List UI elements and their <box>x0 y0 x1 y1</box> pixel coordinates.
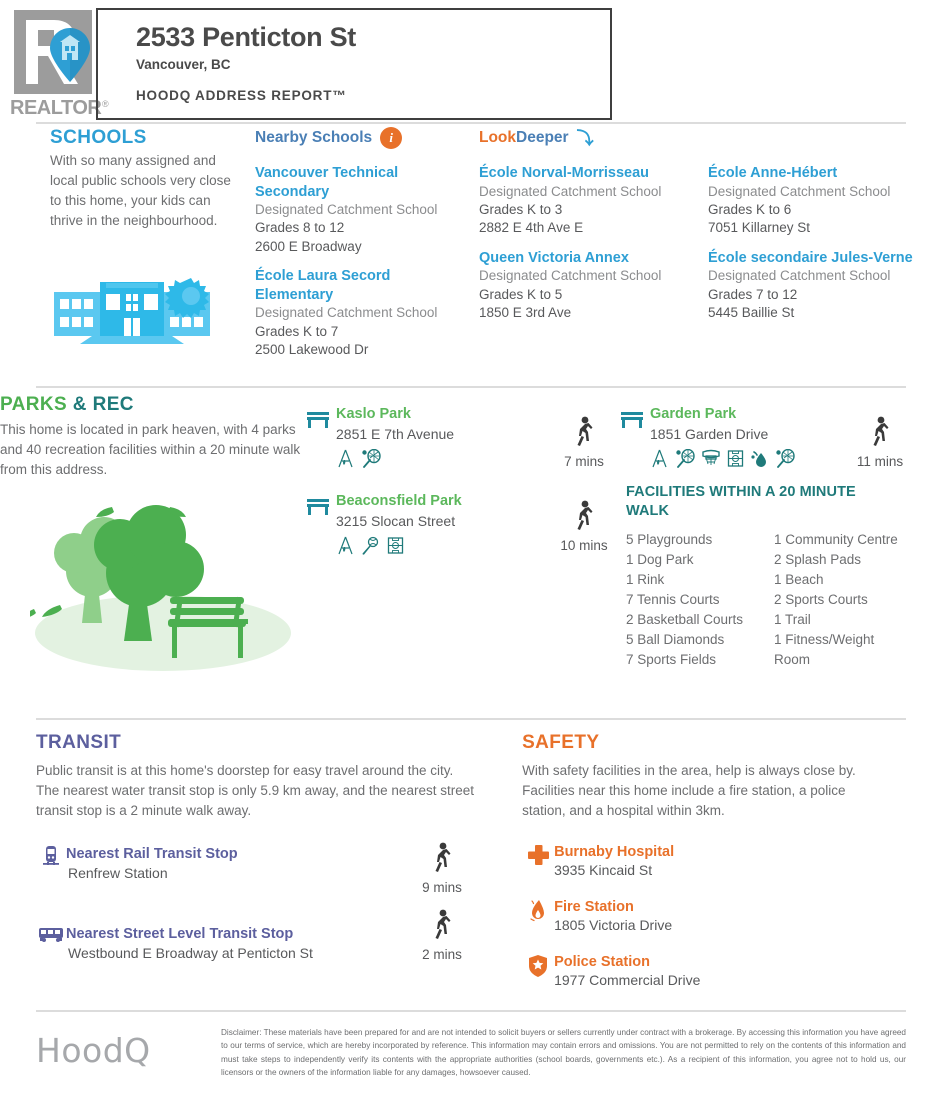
hospital-cross-icon <box>522 843 554 866</box>
bench-icon <box>306 409 330 429</box>
bench-icon <box>620 409 644 429</box>
facility-item: 2 Basketball Courts <box>626 610 752 630</box>
report-header: REALTOR ® 2533 Penticton St Vancouver, B… <box>0 0 942 122</box>
park-address: 2851 E 7th Avenue <box>336 425 454 444</box>
parks-title: PARKS & REC <box>0 394 134 416</box>
school-item: École Laura Secord Elementary Designated… <box>255 267 460 359</box>
park-name[interactable]: Kaslo Park <box>336 406 454 423</box>
page-title: 2533 Penticton St <box>136 22 610 52</box>
schools-title: SCHOOLS <box>50 127 147 149</box>
park-item: Garden Park 1851 Garden Drive <box>620 406 850 468</box>
park-item: Kaslo Park 2851 E 7th Avenue <box>306 406 566 468</box>
park-walk-time: 7 mins <box>552 416 616 469</box>
facility-item: 1 Fitness/Weight Room <box>774 630 902 670</box>
transit-section: TRANSIT Public transit is at this home's… <box>36 732 487 1010</box>
hoodq-address-report: REALTOR ® 2533 Penticton St Vancouver, B… <box>0 0 942 1116</box>
facility-item: 7 Sports Fields <box>626 650 752 670</box>
park-walk-time: 11 mins <box>848 416 912 469</box>
school-item: École Anne-Hébert Designated Catchment S… <box>708 164 919 238</box>
school-designation: Designated Catchment School <box>255 201 460 219</box>
walk-minutes: 2 mins <box>410 947 474 962</box>
arrow-down-icon[interactable]: ⤵ <box>577 130 594 147</box>
school-grades: Grades K to 3 <box>479 201 690 219</box>
school-address: 7051 Killarney St <box>708 219 919 237</box>
lookdeeper-column: LookDeeper ⤵ École Norval-Morrisseau Des… <box>479 126 919 333</box>
transit-stop-name: Renfrew Station <box>68 864 238 883</box>
nearby-schools-label: Nearby Schools <box>255 129 372 147</box>
school-name[interactable]: Queen Victoria Annex <box>479 249 690 268</box>
school-grades: Grades 8 to 12 <box>255 219 460 237</box>
walking-person-icon <box>868 416 892 448</box>
safety-address: 3935 Kincaid St <box>554 861 674 880</box>
flame-icon <box>522 898 554 923</box>
school-designation: Designated Catchment School <box>479 183 690 201</box>
park-amenity-icons <box>336 536 462 555</box>
facility-item: 5 Playgrounds <box>626 530 752 550</box>
school-item: École Norval-Morrisseau Designated Catch… <box>479 164 690 238</box>
park-walk-time: 10 mins <box>552 500 616 553</box>
park-address: 3215 Slocan Street <box>336 512 462 531</box>
school-grades: Grades K to 6 <box>708 201 919 219</box>
school-grades: Grades 7 to 12 <box>708 286 919 304</box>
tennis-racquet-icon <box>361 449 381 468</box>
bench-icon <box>306 496 330 516</box>
school-item: Queen Victoria Annex Designated Catchmen… <box>479 249 690 323</box>
train-icon <box>36 845 66 869</box>
parks-blurb: This home is located in park heaven, wit… <box>0 420 310 480</box>
schools-section: SCHOOLS With so many assigned and local … <box>0 124 942 386</box>
park-amenity-icons <box>336 449 454 468</box>
safety-section: SAFETY With safety facilities in the are… <box>522 732 906 1010</box>
police-shield-icon <box>522 953 554 978</box>
park-illustration <box>30 493 296 673</box>
transit-walk-time: 9 mins <box>410 842 474 895</box>
lookdeeper-heading: LookDeeper ⤵ <box>479 126 919 150</box>
facility-item: 1 Trail <box>774 610 902 630</box>
walking-person-icon <box>430 909 454 941</box>
lookdeeper-right-list: École Anne-Hébert Designated Catchment S… <box>708 164 919 333</box>
park-address: 1851 Garden Drive <box>650 425 795 444</box>
school-item: École secondaire Jules-Verne Designated … <box>708 249 919 323</box>
transit-blurb: Public transit is at this home's doorste… <box>36 761 476 821</box>
safety-name[interactable]: Fire Station <box>554 898 672 916</box>
school-address: 2600 E Broadway <box>255 238 460 256</box>
school-name[interactable]: École secondaire Jules-Verne <box>708 249 919 268</box>
facilities-heading: FACILITIES WITHIN A 20 MINUTE WALK <box>626 483 896 521</box>
school-designation: Designated Catchment School <box>479 267 690 285</box>
transit-walk-time: 2 mins <box>410 909 474 962</box>
lookdeeper-left-list: École Norval-Morrisseau Designated Catch… <box>479 164 690 333</box>
address-box: 2533 Penticton St Vancouver, BC HOODQ AD… <box>96 8 612 120</box>
school-name[interactable]: École Laura Secord Elementary <box>255 267 460 304</box>
safety-address: 1805 Victoria Drive <box>554 916 672 935</box>
park-amenity-icons <box>650 449 795 468</box>
school-address: 2500 Lakewood Dr <box>255 341 460 359</box>
playground-icon <box>336 449 355 468</box>
facilities-lists: 5 Playgrounds 1 Dog Park 1 Rink 7 Tennis… <box>626 530 902 670</box>
school-grades: Grades K to 7 <box>255 323 460 341</box>
facilities-column-b: 1 Community Centre 2 Splash Pads 1 Beach… <box>774 530 902 670</box>
safety-title: SAFETY <box>522 732 906 754</box>
facilities-column-a: 5 Playgrounds 1 Dog Park 1 Rink 7 Tennis… <box>626 530 752 670</box>
transit-stop-label[interactable]: Nearest Rail Transit Stop <box>66 845 238 863</box>
playground-icon <box>650 449 669 468</box>
transit-title: TRANSIT <box>36 732 487 754</box>
safety-blurb: With safety facilities in the area, help… <box>522 761 887 821</box>
svg-text:REALTOR: REALTOR <box>10 97 102 118</box>
park-name[interactable]: Garden Park <box>650 406 795 423</box>
info-icon[interactable]: i <box>380 127 402 149</box>
park-item: Beaconsfield Park 3215 Slocan Street <box>306 493 566 555</box>
safety-name[interactable]: Burnaby Hospital <box>554 843 674 861</box>
school-item: Vancouver Technical Secondary Designated… <box>255 164 460 256</box>
school-designation: Designated Catchment School <box>255 304 460 322</box>
facility-item: 7 Tennis Courts <box>626 590 752 610</box>
facility-item: 5 Ball Diamonds <box>626 630 752 650</box>
walking-person-icon <box>572 500 596 532</box>
school-address: 5445 Baillie St <box>708 304 919 322</box>
school-address: 1850 E 3rd Ave <box>479 304 690 322</box>
school-designation: Designated Catchment School <box>708 183 919 201</box>
sports-field-icon <box>387 536 404 555</box>
school-name[interactable]: École Norval-Morrisseau <box>479 164 690 183</box>
hoodq-logo: HoodQ <box>36 1026 221 1067</box>
walk-minutes: 9 mins <box>410 880 474 895</box>
tennis-racquet-icon <box>775 449 795 468</box>
transit-safety-row: TRANSIT Public transit is at this home's… <box>0 720 942 1010</box>
facility-item: 1 Rink <box>626 570 752 590</box>
walk-minutes: 11 mins <box>848 454 912 469</box>
walk-minutes: 7 mins <box>552 454 616 469</box>
address-city: Vancouver, BC <box>136 57 610 72</box>
ball-diamond-icon <box>361 536 381 555</box>
transit-stop-label[interactable]: Nearest Street Level Transit Stop <box>66 925 313 943</box>
tennis-racquet-icon <box>675 449 695 468</box>
lookdeeper-label-first: Look <box>479 129 516 146</box>
park-name[interactable]: Beaconsfield Park <box>336 493 462 510</box>
school-name[interactable]: Vancouver Technical Secondary <box>255 164 460 201</box>
school-grades: Grades K to 5 <box>479 286 690 304</box>
walking-person-icon <box>430 842 454 874</box>
walking-person-icon <box>572 416 596 448</box>
safety-name[interactable]: Police Station <box>554 953 700 971</box>
safety-item: Fire Station 1805 Victoria Drive <box>522 898 906 935</box>
facility-item: 2 Splash Pads <box>774 550 902 570</box>
facility-item: 2 Sports Courts <box>774 590 902 610</box>
schools-blurb: With so many assigned and local public s… <box>50 151 242 231</box>
facility-item: 1 Beach <box>774 570 902 590</box>
nearby-schools-heading: Nearby Schools i <box>255 126 460 150</box>
facility-item: 1 Dog Park <box>626 550 752 570</box>
splash-pad-icon <box>750 449 769 468</box>
school-building-illustration <box>48 272 216 350</box>
lookdeeper-label-second: Deeper <box>516 129 569 146</box>
parks-title-first: PARKS <box>0 394 67 415</box>
bus-icon <box>36 925 66 945</box>
school-name[interactable]: École Anne-Hébert <box>708 164 919 183</box>
nearby-schools-column: Nearby Schools i Vancouver Technical Sec… <box>255 126 460 370</box>
report-footer: HoodQ Disclaimer: These materials have b… <box>0 1012 942 1079</box>
parks-rec-section: PARKS & REC This home is located in park… <box>0 388 942 718</box>
safety-item: Burnaby Hospital 3935 Kincaid St <box>522 843 906 880</box>
facility-item: 1 Community Centre <box>774 530 902 550</box>
walk-minutes: 10 mins <box>552 538 616 553</box>
basketball-hoop-icon <box>701 449 721 468</box>
transit-stop-name: Westbound E Broadway at Penticton St <box>68 944 313 963</box>
sports-field-icon <box>727 449 744 468</box>
parks-title-second: & REC <box>73 394 134 415</box>
school-address: 2882 E 4th Ave E <box>479 219 690 237</box>
school-designation: Designated Catchment School <box>708 267 919 285</box>
safety-address: 1977 Commercial Drive <box>554 971 700 990</box>
safety-item: Police Station 1977 Commercial Drive <box>522 953 906 990</box>
playground-icon <box>336 536 355 555</box>
disclaimer-text: Disclaimer: These materials have been pr… <box>221 1026 906 1079</box>
report-type-label: HOODQ ADDRESS REPORT™ <box>136 88 610 103</box>
